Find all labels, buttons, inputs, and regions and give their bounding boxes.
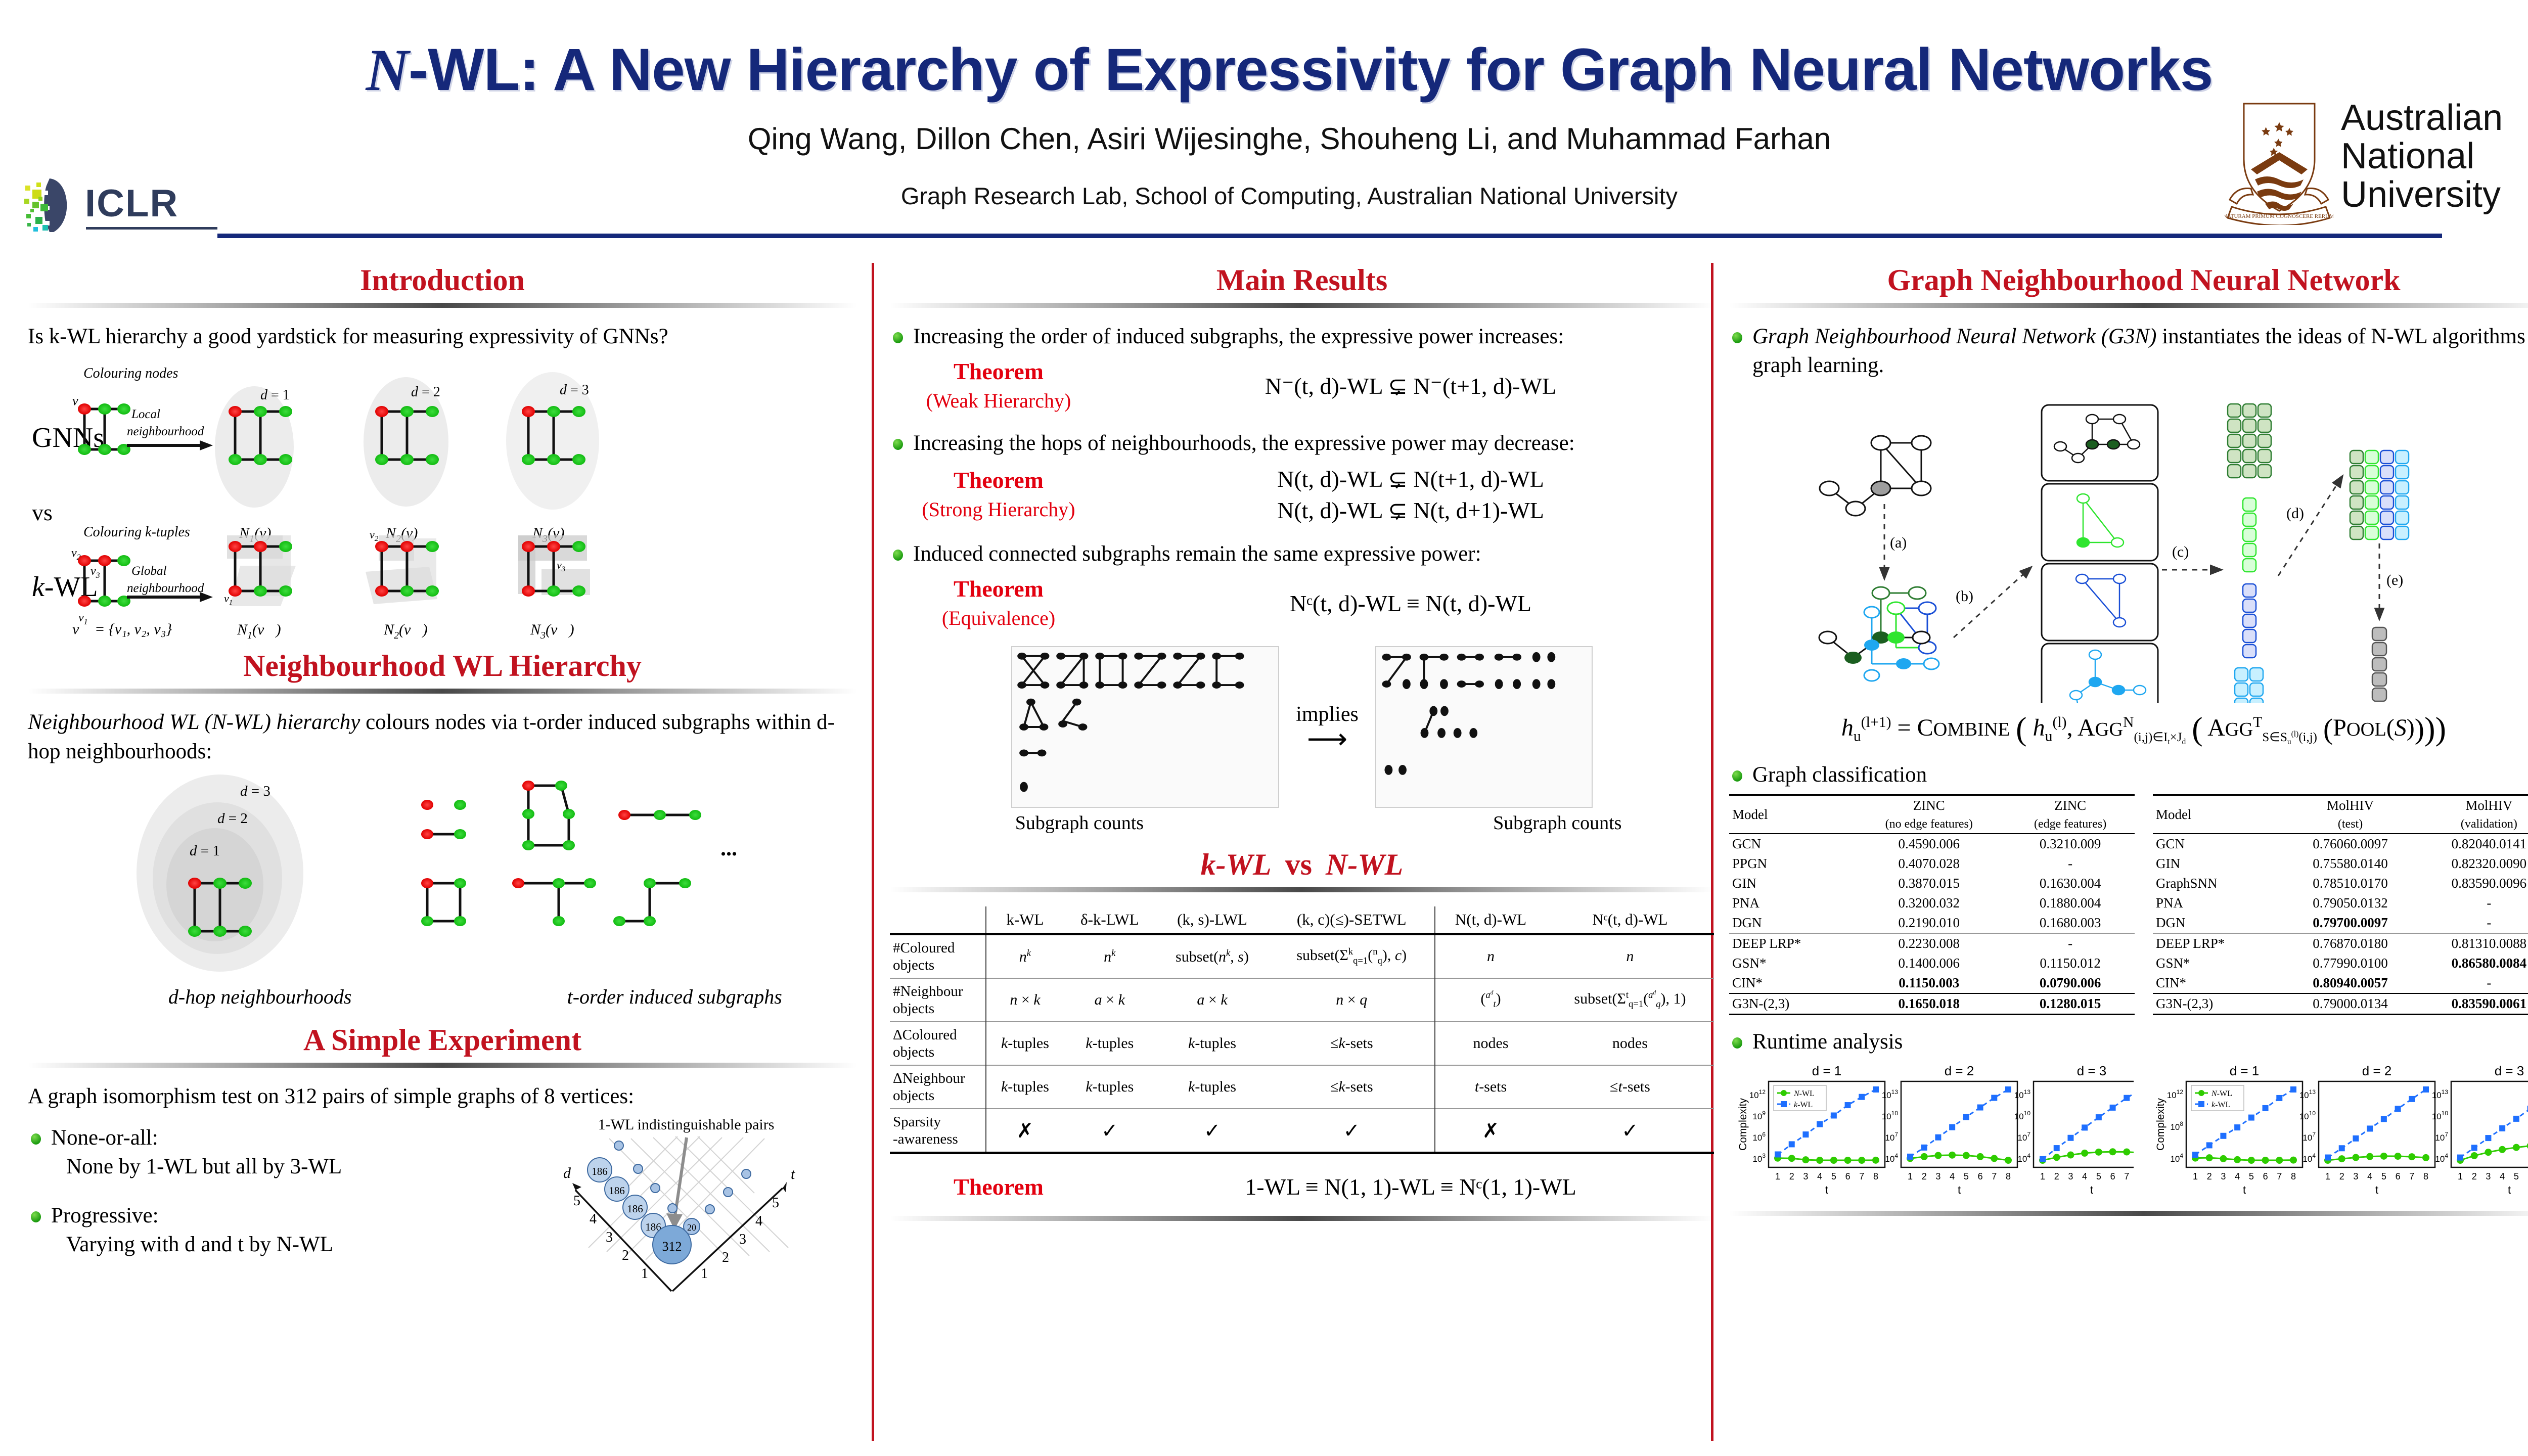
molhiv-subheader-c1: (test) — [2281, 815, 2419, 834]
section-rule — [890, 887, 1714, 892]
zinc-val: 0.3870.015 — [1852, 874, 2006, 893]
subgraph-counts-right-box — [1375, 646, 1593, 808]
svg-text:4: 4 — [755, 1213, 762, 1229]
cmp-cell-mark: ✗ — [1435, 1109, 1546, 1153]
svg-text:3: 3 — [606, 1230, 613, 1245]
x-tick: 8 — [1873, 1171, 1878, 1181]
data-point — [1977, 1153, 1984, 1160]
svg-text:d = 2: d = 2 — [411, 384, 440, 400]
theorem-2-equation-2: N(t, d)-WL ⊊ N(t, d+1)-WL — [1107, 495, 1714, 526]
x-tick: 5 — [1964, 1171, 1969, 1181]
input-graph — [1820, 436, 1931, 516]
y-tick: 107 — [2435, 1131, 2448, 1143]
data-point — [2192, 1152, 2198, 1158]
molhiv-model: PNA — [2153, 893, 2281, 913]
data-point — [2290, 1157, 2297, 1164]
x-tick: 5 — [2249, 1171, 2254, 1181]
cmp-cell: nk — [986, 934, 1064, 979]
table-row: Sparsity-awareness ✗ ✓ ✓ ✓ ✗ ✓ — [890, 1109, 1714, 1153]
zinc-val: 0.3200.032 — [1852, 893, 2006, 913]
section-rule — [28, 303, 857, 308]
legend-label-kwl: k-WL — [2211, 1101, 2230, 1109]
data-point — [2485, 1149, 2492, 1156]
zinc-val: 0.1150.012 — [2006, 953, 2135, 973]
data-point — [1775, 1151, 1781, 1157]
data-point — [2096, 1114, 2102, 1120]
anu-logo: NATURAM PRIMUM COGNOSCERE RERUM Australi… — [2225, 99, 2528, 225]
data-point — [1921, 1145, 1927, 1151]
cmp-cell: a × k — [1156, 978, 1269, 1022]
theorem-2-title: Theorem — [890, 466, 1107, 495]
main-bullet-3: Induced connected subgraphs remain the s… — [890, 539, 1714, 568]
y-axis-label: Complexity — [1737, 1098, 1749, 1151]
cmp-col-5: Nᶜ(t, d)-WL — [1546, 906, 1714, 934]
section-title-main-results: Main Results — [890, 263, 1714, 298]
x-tick: 5 — [1831, 1171, 1836, 1181]
data-point — [2408, 1153, 2415, 1160]
molhiv-model: DEEP LRP* — [2153, 933, 2281, 953]
theorem-1-title: Theorem — [890, 357, 1107, 386]
y-tick: 103 — [1752, 1152, 1766, 1164]
label-vs: vs — [32, 499, 53, 525]
zinc-val: 0.1280.015 — [2006, 993, 2135, 1015]
cmp-cell: n — [1435, 934, 1546, 979]
experiment-bullets: None-or-all: None by 1-WL but all by 3-W… — [28, 1123, 542, 1264]
svg-text:v3: v3 — [91, 565, 100, 580]
molhiv-header-model: Model — [2153, 795, 2281, 834]
data-point — [2276, 1095, 2282, 1101]
data-point — [2206, 1142, 2213, 1148]
data-point — [2040, 1156, 2046, 1162]
diagram-label-b: (b) — [1956, 588, 1973, 605]
column-right: Graph Neighbourhood Neural Network Graph… — [1729, 263, 2528, 1230]
data-point — [1844, 1157, 1852, 1164]
x-axis-label: t — [1958, 1184, 1961, 1196]
svg-text:d = 1: d = 1 — [260, 387, 290, 403]
data-point — [2081, 1150, 2088, 1157]
molhiv-header-c1: MolHIV — [2281, 795, 2419, 816]
molhiv-val: 0.78510.0170 — [2281, 874, 2419, 893]
g3n-intro-item: Graph Neighbourhood Neural Network (G3N)… — [1729, 322, 2528, 380]
table-row: ΔNeighbourobjects k-tuples k-tuples k-tu… — [890, 1065, 1714, 1109]
bullet-2-head: Progressive: — [51, 1201, 542, 1230]
y-tick: 1013 — [2014, 1088, 2031, 1100]
x-tick: 3 — [2353, 1171, 2358, 1181]
diagram-label-d: (d) — [2286, 505, 2304, 522]
molhiv-val: - — [2420, 893, 2528, 913]
data-point — [2234, 1124, 2240, 1130]
cmp-cell: k-tuples — [1156, 1022, 1269, 1065]
data-point — [2054, 1145, 2060, 1151]
y-tick: 1010 — [2014, 1110, 2031, 1121]
column-divider-1 — [872, 263, 874, 1441]
theorem-final: Theorem 1-WL ≡ N(1, 1)-WL ≡ Nᶜ(1, 1)-WL — [890, 1171, 1714, 1203]
column-left: Introduction Is k-WL hierarchy a good ya… — [28, 263, 857, 1336]
bubble-label-312: 312 — [662, 1239, 682, 1254]
x-tick: 2 — [2054, 1171, 2059, 1181]
x-tick: 2 — [1789, 1171, 1794, 1181]
caption-colouring-ktuples: Colouring k-tuples — [83, 524, 190, 540]
subgraph-ellipsis: ... — [720, 836, 737, 860]
theorem-final-equation: 1-WL ≡ N(1, 1)-WL ≡ Nᶜ(1, 1)-WL — [1107, 1171, 1714, 1203]
chart-title: d = 3 — [2495, 1063, 2524, 1078]
diagram-label-e: (e) — [2386, 572, 2403, 588]
data-point — [1872, 1157, 1879, 1164]
svg-text:d = 3: d = 3 — [560, 382, 589, 398]
svg-text:v3: v3 — [557, 559, 565, 573]
data-point — [1963, 1114, 1969, 1120]
subgraph-counts-figure: implies ⟶ — [890, 646, 1714, 808]
cmp-cell: k-tuples — [1064, 1065, 1156, 1109]
zinc-val: 0.1680.003 — [2006, 913, 2135, 933]
runtime-panel-2: d = 21013101010710412345678t — [1882, 1063, 2017, 1196]
data-point — [1845, 1102, 1851, 1108]
table-row: DGN 0.2190.010 0.1680.003 — [1729, 913, 2135, 933]
x-tick: 1 — [1908, 1171, 1913, 1181]
theorem-1-label: Theorem (Weak Hierarchy) — [890, 357, 1107, 416]
diagram-label-a: (a) — [1890, 534, 1907, 551]
gnn-neighbourhood-panels: d = 1 N1(v) d = 2 — [215, 372, 599, 544]
cmp-cell: ≤k-sets — [1269, 1022, 1435, 1065]
runtime-panel-2: d = 21013101010710412345678t — [2299, 1063, 2435, 1196]
zinc-model: PPGN — [1729, 854, 1852, 874]
hierarchy-desc-italic: Neighbourhood WL (N-WL) hierarchy — [28, 710, 360, 734]
cmp-row-label-2: ΔColouredobjects — [890, 1022, 986, 1065]
x-tick: 1 — [2325, 1171, 2330, 1181]
x-tick: 1 — [2458, 1171, 2463, 1181]
legend-label-nwl: N-WL — [2211, 1089, 2232, 1098]
runtime-chart-group-left: d = 1101210910610312345678tComplexityN-W… — [1729, 1061, 2134, 1208]
data-point — [2067, 1135, 2073, 1141]
table-row: PPGN 0.4070.028 - — [1729, 854, 2135, 874]
plot-title: 1-WL indistinguishable pairs — [598, 1116, 774, 1133]
table-row: CIN* 0.1150.003 0.0790.006 — [1729, 973, 2135, 993]
diagram-label-c: (c) — [2172, 543, 2189, 560]
data-point — [2409, 1096, 2415, 1102]
x-tick: 1 — [2040, 1171, 2045, 1181]
data-point — [2110, 1105, 2116, 1111]
cmp-cell: k-tuples — [986, 1022, 1064, 1065]
caption-t-order: t-order induced subgraphs — [492, 985, 857, 1009]
experiment-bullet-2: Progressive: Varying with d and t by N-W… — [28, 1201, 542, 1259]
cmp-title-n: N-WL — [1326, 848, 1403, 881]
embedding-vectors — [2228, 404, 2271, 703]
runtime-chart-group-right: d = 1101210810412345678tComplexityN-WLk-… — [2147, 1061, 2528, 1208]
zinc-val: 0.1650.018 — [1852, 993, 2006, 1015]
main-results-bullets: Increasing the order of induced subgraph… — [890, 322, 1714, 351]
kwl-neighbourhood-panels: v1 N1(v⃗) v2 — [224, 528, 590, 641]
arrow-local — [127, 440, 213, 450]
iclr-logo-text: ICLR — [85, 181, 178, 225]
coloured-graph — [1819, 587, 1939, 681]
subgraph-counts-left-box — [1011, 646, 1279, 808]
runtime-bullet: Runtime analysis — [1729, 1027, 2528, 1056]
table-row: PNA 0.3200.032 0.1880.004 — [1729, 893, 2135, 913]
x-axis-label: t — [2243, 1184, 2246, 1196]
graph-classification-bullet: Graph classification — [1729, 760, 2528, 789]
data-point — [2499, 1125, 2505, 1131]
legend-marker-nwl — [2198, 1090, 2204, 1096]
data-point — [1831, 1112, 1837, 1118]
molhiv-val: 0.79000.0134 — [2281, 993, 2419, 1015]
x-tick: 2 — [2339, 1171, 2344, 1181]
data-point — [2422, 1154, 2429, 1161]
svg-text:2: 2 — [722, 1250, 729, 1265]
y-tick: 1013 — [2299, 1088, 2316, 1100]
runtime-charts-row: d = 1101210910610312345678tComplexityN-W… — [1729, 1061, 2528, 1208]
cmp-cell-mark: ✓ — [1064, 1109, 1156, 1153]
molhiv-val: 0.76870.0180 — [2281, 933, 2419, 953]
data-point — [1873, 1086, 1879, 1093]
anu-logo-text: Australian National University — [2341, 99, 2503, 214]
formula-text: hu(l+1) = COMBINE ( hu(l), AGGN(i,j)∈It×… — [1841, 714, 2446, 741]
zinc-model: CIN* — [1729, 973, 1852, 993]
cmp-cell: subset(nk, s) — [1156, 934, 1269, 979]
zinc-subheader-c2: (edge features) — [2006, 815, 2135, 834]
data-point — [2206, 1154, 2213, 1161]
zinc-model: G3N-(2,3) — [1729, 993, 1852, 1015]
theorem-1-sub: (Weak Hierarchy) — [890, 386, 1107, 416]
molhiv-val: 0.79700.0097 — [2281, 913, 2419, 933]
cmp-cell: subset(Σkq=1(nq), c) — [1269, 934, 1435, 979]
g3n-intro-bullet: Graph Neighbourhood Neural Network (G3N)… — [1729, 322, 2528, 380]
data-point — [1788, 1155, 1795, 1162]
legend-label-nwl: N-WL — [1793, 1089, 1815, 1098]
cmp-row-label-0: #Colouredobjects — [890, 934, 986, 979]
zinc-val: - — [2006, 854, 2135, 874]
cmp-cell-mark: ✓ — [1156, 1109, 1269, 1153]
section-rule — [890, 1216, 1714, 1221]
y-tick: 1012 — [1749, 1088, 1766, 1100]
theorem-3-label: Theorem (Equivalence) — [890, 574, 1107, 633]
data-point — [2395, 1106, 2401, 1112]
chart-title: d = 1 — [2230, 1063, 2260, 1078]
y-tick: 104 — [2303, 1152, 2316, 1164]
y-axis-label: Complexity — [2155, 1098, 2166, 1151]
x-tick: 8 — [2006, 1171, 2011, 1181]
x-tick: 7 — [2124, 1171, 2129, 1181]
table-row: #Colouredobjects nk nk subset(nk, s) sub… — [890, 934, 1714, 979]
theorem-2-sub: (Strong Hierarchy) — [890, 495, 1107, 524]
bubble-label-186-a: 186 — [592, 1165, 608, 1177]
table-row: G3N-(2,3) 0.1650.018 0.1280.015 — [1729, 993, 2135, 1015]
molhiv-subheader-c2: (validation) — [2420, 815, 2528, 834]
poster-root: N-WL: A New Hierarchy of Expressivity fo… — [0, 0, 2528, 1456]
anu-motto-text: NATURAM PRIMUM COGNOSCERE RERUM — [2225, 213, 2333, 219]
x-tick: 3 — [1935, 1171, 1940, 1181]
data-point — [2457, 1155, 2463, 1161]
cmp-col-4: N(t, d)-WL — [1435, 906, 1546, 934]
header-divider — [217, 234, 2442, 238]
axis-label-d: d — [563, 1165, 571, 1181]
x-tick: 5 — [2381, 1171, 2386, 1181]
y-tick: 1010 — [1882, 1110, 1899, 1121]
cmp-col-2: (k, s)-LWL — [1156, 906, 1269, 934]
svg-text:5: 5 — [573, 1193, 580, 1209]
cmp-cell-mark: ✓ — [1269, 1109, 1435, 1153]
caption-subgraph-counts-left: Subgraph counts — [890, 812, 1269, 834]
data-point — [2367, 1125, 2373, 1131]
data-point — [2005, 1086, 2011, 1093]
y-tick: 107 — [2017, 1131, 2030, 1143]
cmp-cell: n × q — [1269, 978, 1435, 1022]
zinc-val: 0.1400.006 — [1852, 953, 2006, 973]
table-row: DEEP LRP* 0.76870.0180 0.81310.0088 — [2153, 933, 2528, 953]
molhiv-model: GraphSNN — [2153, 874, 2281, 893]
theorem-2-equations: N(t, d)-WL ⊊ N(t+1, d)-WL N(t, d)-WL ⊊ N… — [1107, 464, 1714, 526]
cmp-cell: n — [1546, 934, 1714, 979]
x-tick: 2 — [2207, 1171, 2212, 1181]
caption-local-nbhd: Local — [131, 407, 160, 421]
main-bullet-2: Increasing the hops of neighbourhoods, t… — [890, 429, 1714, 458]
hier-d3-label: d = 3 — [240, 783, 270, 799]
runtime-panel-3: d = 31013101010710412345678t — [2432, 1063, 2528, 1196]
theorem-final-label: Theorem — [890, 1172, 1107, 1202]
data-point — [1816, 1157, 1823, 1164]
data-point — [1963, 1152, 1970, 1159]
data-point — [2395, 1153, 2402, 1160]
implies-arrow-group: implies ⟶ — [1279, 702, 1375, 752]
zinc-model: GIN — [1729, 874, 1852, 893]
y-tick: 1010 — [2299, 1110, 2316, 1121]
legend-marker-kwl — [2198, 1101, 2204, 1107]
data-point — [2499, 1146, 2506, 1153]
results-tables-row: Model ZINC ZINC (no edge features) (edge… — [1729, 794, 2528, 1015]
molhiv-model: GIN — [2153, 854, 2281, 874]
bubble-label-186-b: 186 — [609, 1185, 625, 1197]
section-title-g3n: Graph Neighbourhood Neural Network — [1729, 263, 2528, 298]
data-point — [2095, 1149, 2102, 1156]
zinc-val: 0.1880.004 — [2006, 893, 2135, 913]
affiliation-line: Graph Research Lab, School of Computing,… — [263, 182, 2316, 210]
cmp-cell-mark: ✗ — [986, 1109, 1064, 1153]
chart-title: d = 3 — [2077, 1063, 2107, 1078]
main-results-bullets-3: Induced connected subgraphs remain the s… — [890, 539, 1714, 568]
data-point — [1991, 1155, 1998, 1162]
y-tick: 108 — [2170, 1120, 2183, 1132]
svg-text:1: 1 — [701, 1266, 708, 1282]
anu-line-3: University — [2341, 175, 2503, 214]
data-point — [1830, 1157, 1837, 1164]
molhiv-val: 0.80940.0057 — [2281, 973, 2419, 993]
data-point — [2381, 1116, 2387, 1122]
table-row: GIN 0.3870.015 0.1630.004 — [1729, 874, 2135, 893]
bubble-label-186-c: 186 — [627, 1203, 643, 1215]
section-title-comparison: k-WL vs N-WL — [890, 847, 1714, 882]
data-point — [1907, 1154, 1913, 1160]
zinc-val: 0.0790.006 — [2006, 973, 2135, 993]
zinc-header-row: Model ZINC ZINC — [1729, 795, 2135, 816]
data-point — [1859, 1094, 1865, 1100]
runtime-panel-1: d = 1101210910610312345678tComplexityN-W… — [1737, 1063, 1885, 1196]
molhiv-val: 0.83590.0061 — [2420, 993, 2528, 1015]
theorem-3-equation: Nᶜ(t, d)-WL ≡ N(t, d)-WL — [1107, 588, 1714, 619]
y-tick: 109 — [1752, 1110, 1766, 1121]
data-point — [2248, 1157, 2255, 1164]
data-point — [2290, 1086, 2296, 1093]
svg-text:neighbourhood: neighbourhood — [127, 425, 204, 438]
data-point — [2248, 1115, 2254, 1121]
data-point — [1802, 1156, 1809, 1163]
runtime-panel-3: d = 31013101010710412345678t — [2014, 1063, 2134, 1196]
legend-label-kwl: k-WL — [1794, 1101, 1813, 1109]
output-vector — [2372, 627, 2386, 701]
x-axis-label: t — [1825, 1184, 1828, 1196]
hier-d2-label: d = 2 — [217, 810, 248, 827]
x-tick: 2 — [1922, 1171, 1927, 1181]
x-tick: 3 — [2068, 1171, 2073, 1181]
cmp-cell: nodes — [1546, 1022, 1714, 1065]
cmp-corner — [890, 906, 986, 934]
svg-text:N2(v⃗): N2(v⃗) — [383, 621, 428, 641]
data-point — [2082, 1124, 2088, 1130]
cmp-row-label-3: ΔNeighbourobjects — [890, 1065, 986, 1109]
bullet-2-body: Varying with d and t by N-WL — [51, 1230, 542, 1259]
x-tick: 7 — [2409, 1171, 2414, 1181]
section-rule — [28, 689, 857, 694]
data-point — [2485, 1135, 2491, 1141]
x-tick: 6 — [2110, 1171, 2115, 1181]
x-tick: 4 — [2235, 1171, 2240, 1181]
data-point — [2124, 1095, 2130, 1101]
anu-line-2: National — [2341, 137, 2503, 175]
table-row: GIN 0.75580.0140 0.82320.0090 — [2153, 854, 2528, 874]
column-middle: Main Results Increasing the order of ind… — [890, 263, 1714, 1235]
cmp-title-k: k-WL — [1201, 848, 1272, 881]
zinc-header-model: Model — [1729, 795, 1852, 834]
x-tick: 1 — [2193, 1171, 2198, 1181]
svg-text:v: v — [72, 393, 78, 408]
runtime-analysis-label: Runtime analysis — [1729, 1027, 2528, 1056]
cmp-cell: k-tuples — [1064, 1022, 1156, 1065]
g3n-update-formula: hu(l+1) = COMBINE ( hu(l), AGGN(i,j)∈It×… — [1729, 710, 2528, 748]
theorem-equivalence: Theorem (Equivalence) Nᶜ(t, d)-WL ≡ N(t,… — [890, 574, 1714, 633]
chart-title: d = 2 — [2362, 1063, 2392, 1078]
molhiv-val: - — [2420, 913, 2528, 933]
x-tick: 8 — [2423, 1171, 2428, 1181]
molhiv-val: - — [2420, 973, 2528, 993]
hierarchy-description: Neighbourhood WL (N-WL) hierarchy colour… — [28, 708, 857, 766]
legend-marker-nwl — [1781, 1090, 1787, 1096]
molhiv-val: 0.82320.0090 — [2420, 854, 2528, 874]
cmp-row-label-1: #Neighbourobjects — [890, 978, 986, 1022]
svg-text:N3(v⃗): N3(v⃗) — [530, 621, 574, 641]
x-tick: 1 — [1775, 1171, 1780, 1181]
caption-d-hop: d-hop neighbourhoods — [28, 985, 492, 1009]
table-row: PNA 0.79050.0132 - — [2153, 893, 2528, 913]
cmp-cell: ≤k-sets — [1269, 1065, 1435, 1109]
data-point — [2220, 1155, 2227, 1162]
molhiv-val: 0.79050.0132 — [2281, 893, 2419, 913]
x-axis-label: t — [2375, 1184, 2378, 1196]
title-rest: -WL: A New Hierarchy of Expressivity for… — [409, 36, 2213, 103]
svg-text:v2: v2 — [370, 528, 379, 543]
table-row: DEEP LRP* 0.2230.008 - — [1729, 933, 2135, 953]
zinc-model: GSN* — [1729, 953, 1852, 973]
zinc-val: 0.1150.003 — [1852, 973, 2006, 993]
zinc-val: 0.2190.010 — [1852, 913, 2006, 933]
theorem-weak-hierarchy: Theorem (Weak Hierarchy) N⁻(t, d)-WL ⊊ N… — [890, 357, 1714, 416]
g3n-intro-italic: Graph Neighbourhood Neural Network (G3N) — [1752, 325, 2157, 348]
implies-label: implies — [1279, 702, 1375, 726]
data-point — [2053, 1154, 2060, 1161]
section-rule — [28, 1063, 857, 1068]
zinc-model: DGN — [1729, 913, 1852, 933]
molhiv-results-table: Model MolHIV MolHIV (test) (validation) … — [2153, 794, 2528, 1015]
g3n-architecture-diagram: (a) — [1729, 385, 2528, 703]
x-tick: 4 — [2500, 1171, 2505, 1181]
section-rule — [890, 303, 1714, 308]
